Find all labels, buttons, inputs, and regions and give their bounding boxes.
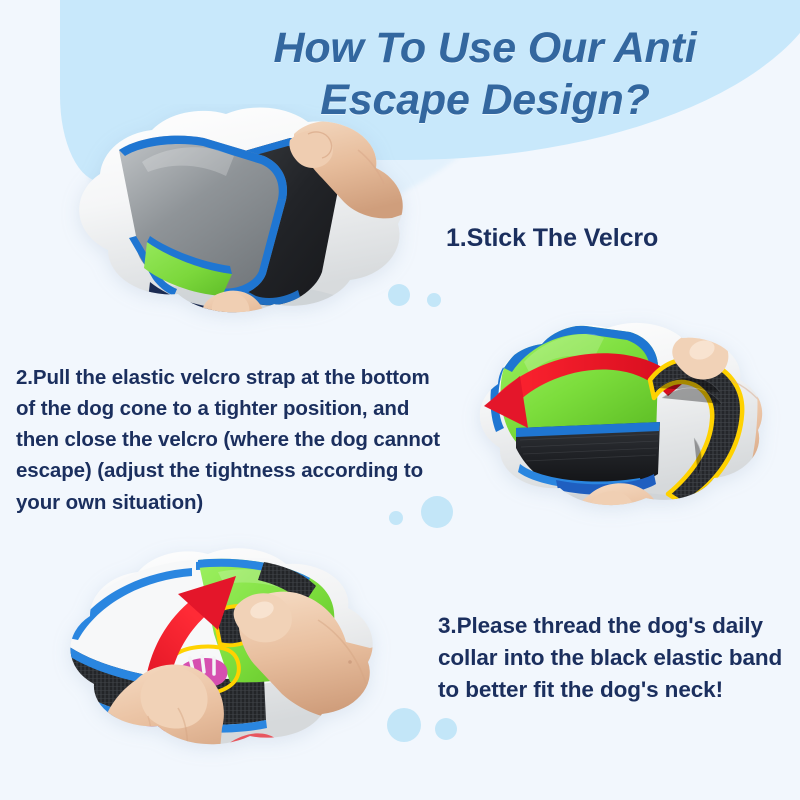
page-title: How To Use Our Anti Escape Design?: [180, 22, 790, 127]
decor-dot-left-mid-large: [388, 284, 410, 306]
step-3-photo-content: [58, 558, 418, 800]
step-1-label: 1.Stick The Velcro: [446, 222, 776, 255]
infographic-page: How To Use Our Anti Escape Design?: [0, 0, 800, 800]
step-1-photo: [22, 104, 432, 354]
decor-dot-bottom-small: [435, 718, 457, 740]
page-title-line-1: How To Use Our Anti: [180, 22, 790, 74]
step-3-photo: [28, 512, 418, 800]
decor-dot-left-mid-small: [427, 293, 441, 307]
step-2-label: 2.Pull the elastic velcro strap at the b…: [16, 362, 440, 518]
page-title-line-2: Escape Design?: [180, 74, 790, 126]
step-3-label: 3.Please thread the dog's daily collar i…: [438, 610, 790, 706]
decor-dot-bottom-large: [387, 708, 421, 742]
step-2-photo: [444, 288, 800, 560]
